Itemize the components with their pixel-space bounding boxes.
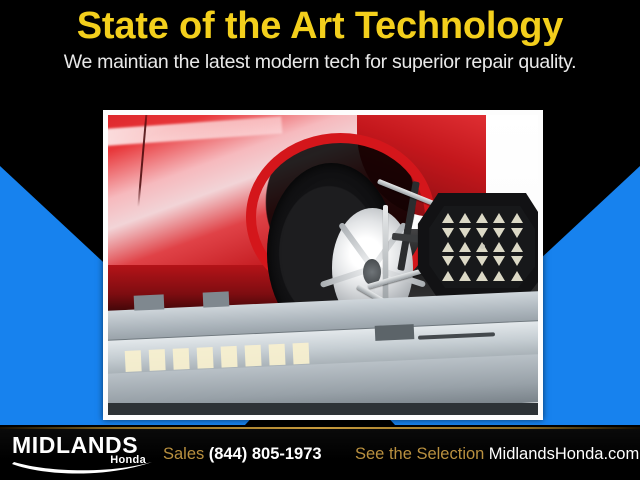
target-marker-row [429,256,535,266]
wheel-alignment-target-board [418,193,538,301]
blue-wing-left-decoration [0,100,116,425]
see-selection-label: See the Selection [355,445,484,463]
target-center-dot [480,244,485,249]
headline-block: State of the Art Technology We maintian … [0,0,640,92]
rack-hash-mark [269,343,286,365]
target-triangle-marker [511,213,523,223]
target-triangle-marker [511,228,523,238]
target-triangle-marker [442,213,454,223]
target-triangle-marker [511,256,523,266]
footer-bar: MIDLANDS Honda Sales (844) 805-1973 See … [0,429,640,480]
target-triangle-marker [442,228,454,238]
rack-shadow [108,403,538,415]
rack-hash-mark [125,350,142,372]
alignment-clamp-arm [383,205,388,307]
target-triangle-marker [459,242,471,252]
target-triangle-marker [459,228,471,238]
rack-hash-mark [173,348,190,370]
car-highlight [108,117,282,147]
target-triangle-marker [476,228,488,238]
logo-swoosh-icon [10,461,156,477]
target-triangle-marker [493,228,505,238]
target-triangle-marker [442,271,454,281]
rack-hash-mark [149,349,166,371]
rack-hash-mark [197,346,214,368]
rack-hash-mark [293,342,310,364]
target-triangle-marker [476,271,488,281]
target-triangle-marker [493,271,505,281]
target-triangle-marker [442,242,454,252]
target-triangle-marker [493,213,505,223]
page-subtitle: We maintian the latest modern tech for s… [0,48,640,74]
photo-frame [103,110,543,420]
target-marker-row [429,228,535,238]
target-marker-row [429,271,535,281]
target-triangle-marker [476,256,488,266]
target-triangle-marker [511,271,523,281]
target-triangle-marker [493,242,505,252]
website-url[interactable]: MidlandsHonda.com [489,445,639,463]
target-triangle-marker [511,242,523,252]
alignment-photo [108,115,538,415]
rack-hash-mark [221,345,238,367]
target-triangle-marker [442,256,454,266]
rack-hash-mark [245,344,262,366]
sales-label: Sales [163,445,204,463]
target-triangle-marker [459,213,471,223]
target-triangle-marker [459,256,471,266]
rack-bracket [133,294,164,310]
rack-bracket [374,324,413,341]
website-cta[interactable]: See the Selection MidlandsHonda.com [355,441,639,467]
target-triangle-marker [459,271,471,281]
dealer-logo[interactable]: MIDLANDS Honda [12,433,152,477]
target-triangle-marker [476,213,488,223]
sales-contact[interactable]: Sales (844) 805-1973 [163,441,322,467]
target-marker-row [429,213,535,223]
promo-slide: State of the Art Technology We maintian … [0,0,640,480]
target-triangle-marker [493,256,505,266]
phone-number[interactable]: (844) 805-1973 [209,445,322,463]
rack-bracket [202,291,228,307]
page-title: State of the Art Technology [0,0,640,48]
